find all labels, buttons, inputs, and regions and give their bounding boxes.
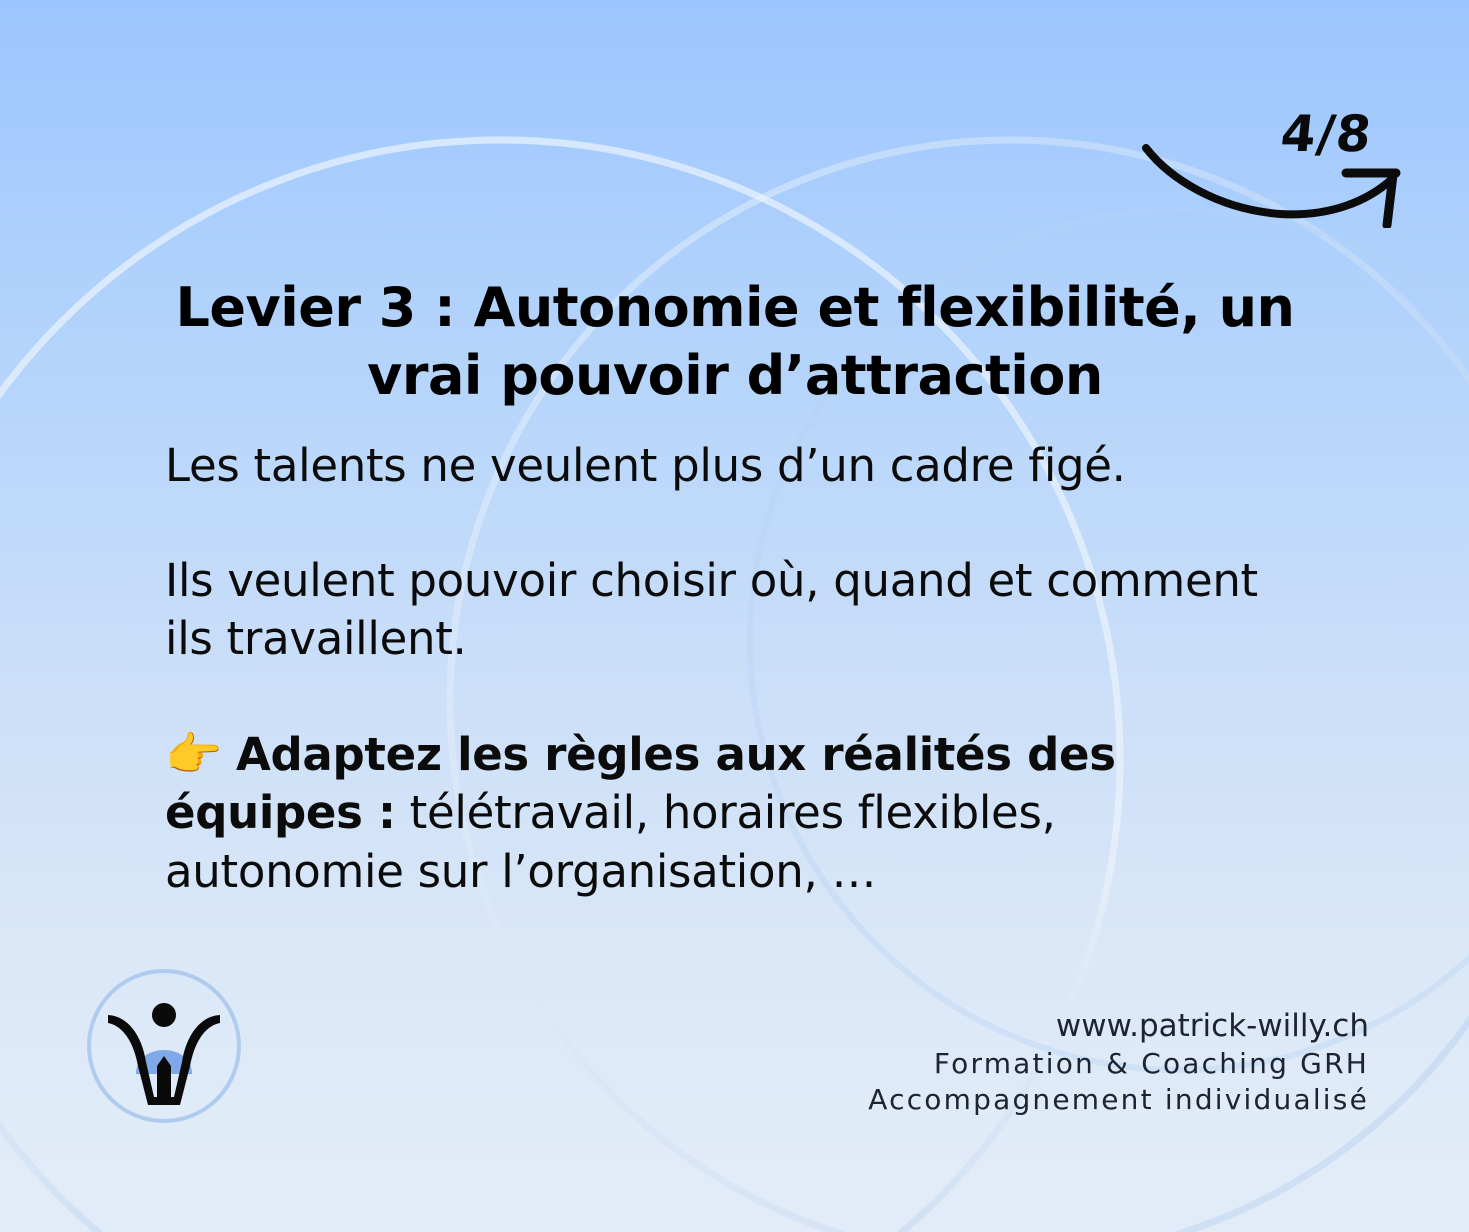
- body-paragraph-1: Les talents ne veulent plus d’un cadre f…: [165, 437, 1285, 496]
- logo-w-figure: [108, 1015, 220, 1105]
- page-indicator: 4/8: [1140, 105, 1430, 225]
- patrick-willy-logo: [84, 966, 244, 1126]
- curved-arrow-icon: [1140, 143, 1430, 228]
- footer-subtagline: Accompagnement individualisé: [749, 1082, 1369, 1118]
- footer-tagline: Formation & Coaching GRH: [749, 1046, 1369, 1082]
- slide-title: Levier 3 : Autonomie et flexibilité, un …: [120, 274, 1350, 410]
- footer: www.patrick-willy.ch Formation & Coachin…: [749, 1008, 1369, 1119]
- body-paragraph-2: Ils veulent pouvoir choisir où, quand et…: [165, 552, 1285, 669]
- logo-head-icon: [152, 1003, 176, 1027]
- pointing-right-hand-icon: 👉: [165, 727, 222, 781]
- slide-canvas: 4/8 Levier 3 : Autonomie et flexibilité,…: [0, 0, 1469, 1232]
- footer-website-url[interactable]: www.patrick-willy.ch: [749, 1008, 1369, 1046]
- slide-body: Les talents ne veulent plus d’un cadre f…: [165, 437, 1285, 901]
- body-highlight: 👉Adaptez les règles aux réalités des équ…: [165, 725, 1285, 902]
